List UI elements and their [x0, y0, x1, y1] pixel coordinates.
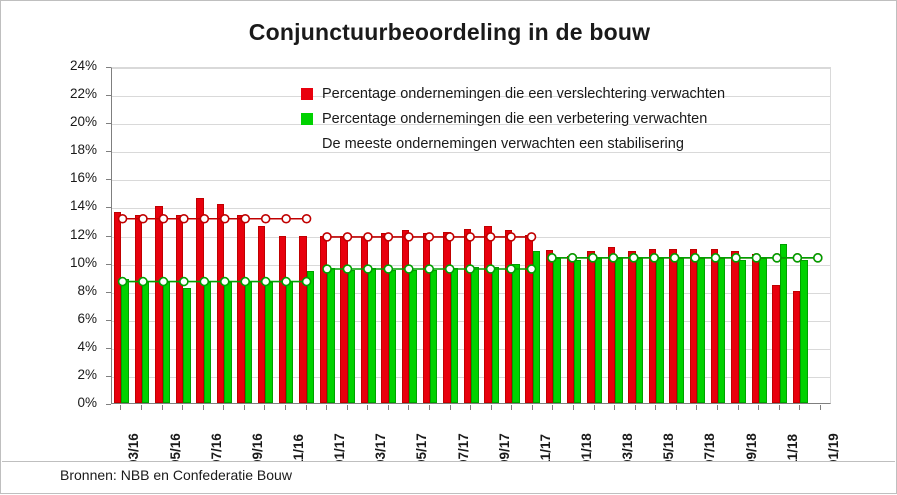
x-tick-mark — [182, 405, 183, 410]
x-tick-mark — [820, 405, 821, 410]
y-tick-label: 16% — [1, 170, 97, 185]
x-tick-mark — [223, 405, 224, 410]
trend-marker-icon — [446, 265, 454, 273]
x-tick-mark — [326, 405, 327, 410]
trend-marker-icon — [446, 233, 454, 241]
trend-marker-icon — [568, 254, 576, 262]
x-tick-mark — [162, 405, 163, 410]
x-tick-mark — [758, 405, 759, 410]
legend-item-verslechtering: Percentage ondernemingen die een verslec… — [301, 83, 801, 105]
y-tick-label: 18% — [1, 142, 97, 157]
trend-marker-icon — [507, 265, 515, 273]
trend-marker-icon — [466, 265, 474, 273]
trend-marker-icon — [487, 265, 495, 273]
x-tick-mark — [285, 405, 286, 410]
trend-marker-icon — [650, 254, 658, 262]
x-tick-mark — [347, 405, 348, 410]
x-tick-mark — [120, 405, 121, 410]
x-tick-mark — [306, 405, 307, 410]
x-tick-mark — [779, 405, 780, 410]
x-tick-mark — [676, 405, 677, 410]
legend-item-stabilisering: De meeste ondernemingen verwachten een s… — [322, 133, 801, 155]
trend-marker-icon — [119, 278, 127, 286]
y-axis: 0%2%4%6%8%10%12%14%16%18%20%22%24% — [1, 1, 111, 495]
legend-label-verbetering: Percentage ondernemingen die een verbete… — [322, 111, 707, 127]
trend-marker-icon — [507, 233, 515, 241]
x-tick-mark — [655, 405, 656, 410]
source-bar: Bronnen: NBB en Confederatie Bouw — [2, 461, 895, 492]
trend-marker-icon — [405, 265, 413, 273]
trend-marker-icon — [119, 215, 127, 223]
x-tick-mark — [408, 405, 409, 410]
x-tick-mark — [429, 405, 430, 410]
source-note: Bronnen: NBB en Confederatie Bouw — [60, 467, 292, 483]
trend-marker-icon — [773, 254, 781, 262]
trend-marker-icon — [344, 233, 352, 241]
trend-marker-icon — [139, 215, 147, 223]
trend-marker-icon — [425, 233, 433, 241]
x-tick-mark — [696, 405, 697, 410]
legend-swatch-red-icon — [301, 88, 313, 100]
trend-marker-icon — [712, 254, 720, 262]
trend-marker-icon — [384, 265, 392, 273]
x-tick-mark — [552, 405, 553, 410]
x-tick-mark — [470, 405, 471, 410]
chart-figure: Conjunctuurbeoordeling in de bouw 0%2%4%… — [0, 0, 897, 494]
x-tick-mark — [264, 405, 265, 410]
x-tick-mark — [511, 405, 512, 410]
x-tick-mark — [635, 405, 636, 410]
trend-marker-icon — [159, 278, 167, 286]
x-tick-mark — [738, 405, 739, 410]
y-tick-label: 2% — [1, 367, 97, 382]
y-tick-label: 12% — [1, 227, 97, 242]
trend-marker-icon — [630, 254, 638, 262]
x-tick-mark — [799, 405, 800, 410]
legend-item-verbetering: Percentage ondernemingen die een verbete… — [301, 108, 801, 130]
trend-marker-icon — [528, 265, 536, 273]
trend-marker-icon — [364, 233, 372, 241]
legend-label-stabilisering: De meeste ondernemingen verwachten een s… — [322, 136, 684, 152]
trend-marker-icon — [384, 233, 392, 241]
trend-marker-icon — [221, 278, 229, 286]
trend-marker-icon — [200, 215, 208, 223]
y-tick-label: 22% — [1, 86, 97, 101]
trend-marker-icon — [139, 278, 147, 286]
x-tick-mark — [203, 405, 204, 410]
x-tick-mark — [594, 405, 595, 410]
trend-marker-icon — [671, 254, 679, 262]
trend-marker-icon — [221, 215, 229, 223]
y-tick-label: 24% — [1, 58, 97, 73]
trend-marker-icon — [282, 215, 290, 223]
trend-marker-icon — [425, 265, 433, 273]
trend-marker-icon — [528, 233, 536, 241]
trend-marker-icon — [323, 233, 331, 241]
trend-marker-icon — [548, 254, 556, 262]
trend-marker-icon — [200, 278, 208, 286]
trend-marker-icon — [364, 265, 372, 273]
trend-marker-icon — [323, 265, 331, 273]
y-tick-label: 8% — [1, 283, 97, 298]
legend-label-verslechtering: Percentage ondernemingen die een verslec… — [322, 86, 725, 102]
x-tick-mark — [532, 405, 533, 410]
trend-marker-icon — [466, 233, 474, 241]
trend-marker-icon — [793, 254, 801, 262]
trend-marker-icon — [303, 278, 311, 286]
trend-marker-icon — [180, 278, 188, 286]
trend-marker-icon — [405, 233, 413, 241]
x-tick-mark — [388, 405, 389, 410]
y-tick-label: 10% — [1, 255, 97, 270]
trend-marker-icon — [814, 254, 822, 262]
trend-marker-icon — [241, 278, 249, 286]
trend-marker-icon — [589, 254, 597, 262]
trend-marker-icon — [609, 254, 617, 262]
trend-marker-icon — [241, 215, 249, 223]
y-tick-label: 6% — [1, 311, 97, 326]
y-tick-label: 20% — [1, 114, 97, 129]
y-tick-label: 14% — [1, 198, 97, 213]
trend-marker-icon — [303, 215, 311, 223]
x-tick-mark — [367, 405, 368, 410]
x-tick-mark — [141, 405, 142, 410]
trend-marker-icon — [487, 233, 495, 241]
x-tick-mark — [244, 405, 245, 410]
x-tick-mark — [491, 405, 492, 410]
trend-marker-icon — [262, 215, 270, 223]
trend-marker-icon — [180, 215, 188, 223]
y-tick-label: 0% — [1, 395, 97, 410]
trend-marker-icon — [752, 254, 760, 262]
x-tick-mark — [573, 405, 574, 410]
trend-marker-icon — [732, 254, 740, 262]
chart-title: Conjunctuurbeoordeling in de bouw — [1, 19, 897, 46]
chart-legend: Percentage ondernemingen die een verslec… — [301, 83, 801, 158]
x-tick-mark — [614, 405, 615, 410]
x-tick-mark — [717, 405, 718, 410]
y-tick-label: 4% — [1, 339, 97, 354]
legend-swatch-green-icon — [301, 113, 313, 125]
trend-marker-icon — [691, 254, 699, 262]
trend-marker-icon — [262, 278, 270, 286]
trend-marker-icon — [282, 278, 290, 286]
trend-marker-icon — [344, 265, 352, 273]
x-tick-mark — [450, 405, 451, 410]
trend-marker-icon — [159, 215, 167, 223]
